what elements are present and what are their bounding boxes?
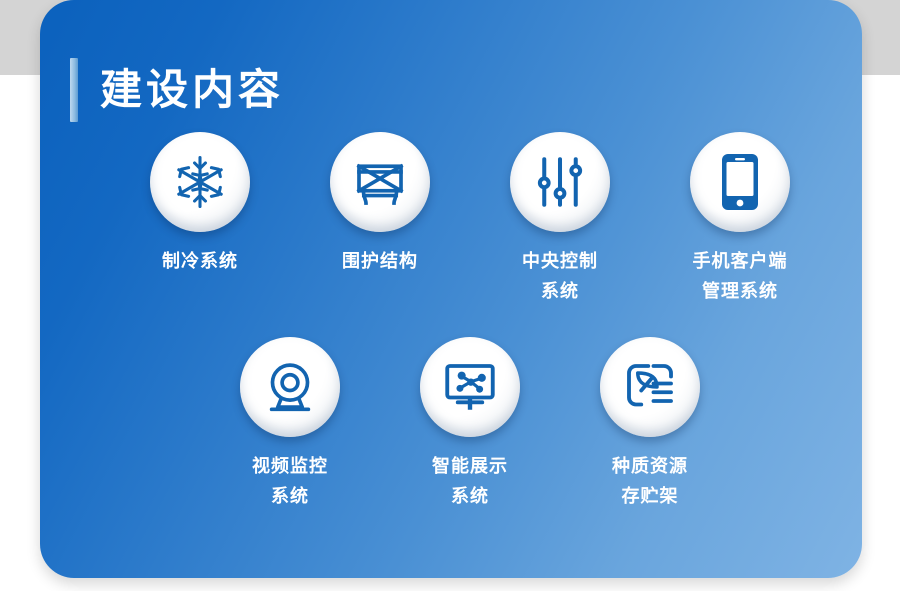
feature-item-mobile-client[interactable]: 手机客户端 管理系统 [670,132,810,306]
display-network-icon [442,359,498,415]
feature-row-2: 视频监控 系统 [190,337,750,511]
feature-item-central-control[interactable]: 中央控制 系统 [490,132,630,306]
panel-header: 建设内容 [70,58,284,122]
icon-bubble [150,132,250,232]
feature-label: 围护结构 [342,246,418,276]
icon-bubble [330,132,430,232]
snowflake-icon [171,153,229,211]
feature-label: 制冷系统 [162,246,238,276]
title-accent-bar [70,58,78,122]
feature-item-video-surveillance[interactable]: 视频监控 系统 [220,337,360,511]
webcam-icon [262,359,318,415]
content-panel: 建设内容 [40,0,862,578]
icon-bubble [600,337,700,437]
icon-bubble [690,132,790,232]
icon-bubble [510,132,610,232]
icon-bubble [240,337,340,437]
feature-label: 视频监控 系统 [252,451,328,511]
feature-label: 中央控制 系统 [522,246,598,306]
truss-structure-icon [352,154,408,210]
feature-item-enclosure-structure[interactable]: 围护结构 [310,132,450,306]
page-title: 建设内容 [100,69,284,111]
feature-label: 种质资源 存贮架 [612,451,688,511]
smartphone-icon [718,152,762,212]
feature-row-1: 制冷系统 围护结构 [100,132,840,306]
feature-label: 手机客户端 管理系统 [693,246,788,306]
leaf-document-icon [622,359,678,415]
icon-bubble [420,337,520,437]
feature-item-refrigeration[interactable]: 制冷系统 [130,132,270,306]
sliders-icon [534,154,586,210]
feature-item-smart-display[interactable]: 智能展示 系统 [400,337,540,511]
feature-label: 智能展示 系统 [432,451,508,511]
feature-item-germplasm-storage[interactable]: 种质资源 存贮架 [580,337,720,511]
